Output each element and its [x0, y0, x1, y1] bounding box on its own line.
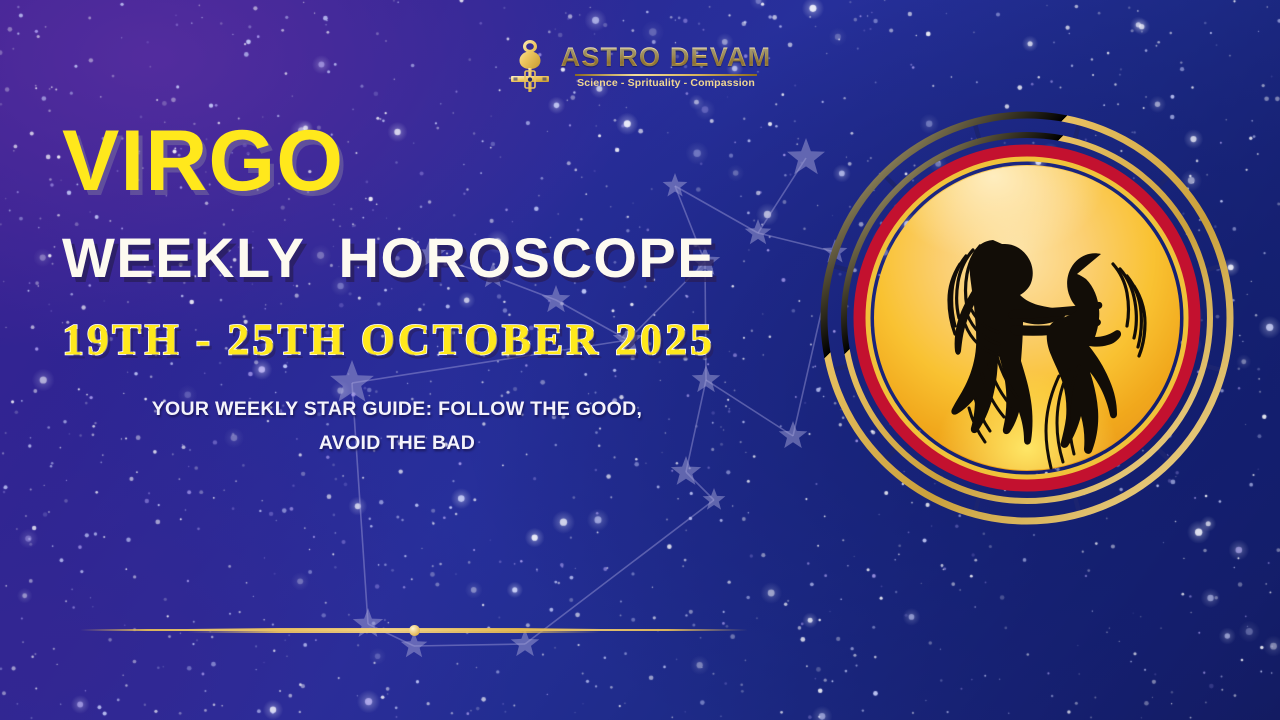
zodiac-sign-title: VIRGO	[62, 118, 852, 204]
brand-logo: ASTRO DEVAM Science - Sprituality - Comp…	[0, 38, 1280, 94]
divider-center-dot	[409, 625, 420, 636]
horoscope-poster: ASTRO DEVAM Science - Sprituality - Comp…	[0, 0, 1280, 720]
brand-name: ASTRO DEVAM	[561, 44, 772, 71]
gold-divider-line	[80, 626, 748, 634]
tagline-line-2: AVOID THE BAD	[319, 432, 475, 454]
brand-tagline: Science - Sprituality - Compassion	[577, 78, 755, 89]
tagline-line-1: YOUR WEEKLY STAR GUIDE: FOLLOW THE GOOD,	[152, 398, 642, 420]
brand-text: ASTRO DEVAM Science - Sprituality - Comp…	[561, 44, 772, 89]
date-range: 19TH - 25TH OCTOBER 2025	[62, 318, 852, 362]
brand-rule	[575, 74, 757, 76]
page-title: WEEKLY HOROSCOPE	[62, 230, 852, 286]
gemini-twins-zodiac-icon	[817, 108, 1237, 528]
headline-block: VIRGO WEEKLY HOROSCOPE 19TH - 25TH OCTOB…	[62, 118, 852, 460]
kalash-crescent-emblem-icon	[509, 38, 551, 94]
zodiac-medallion	[817, 108, 1237, 528]
tagline: YOUR WEEKLY STAR GUIDE: FOLLOW THE GOOD,…	[62, 392, 732, 460]
divider-bar-thick	[187, 628, 601, 633]
